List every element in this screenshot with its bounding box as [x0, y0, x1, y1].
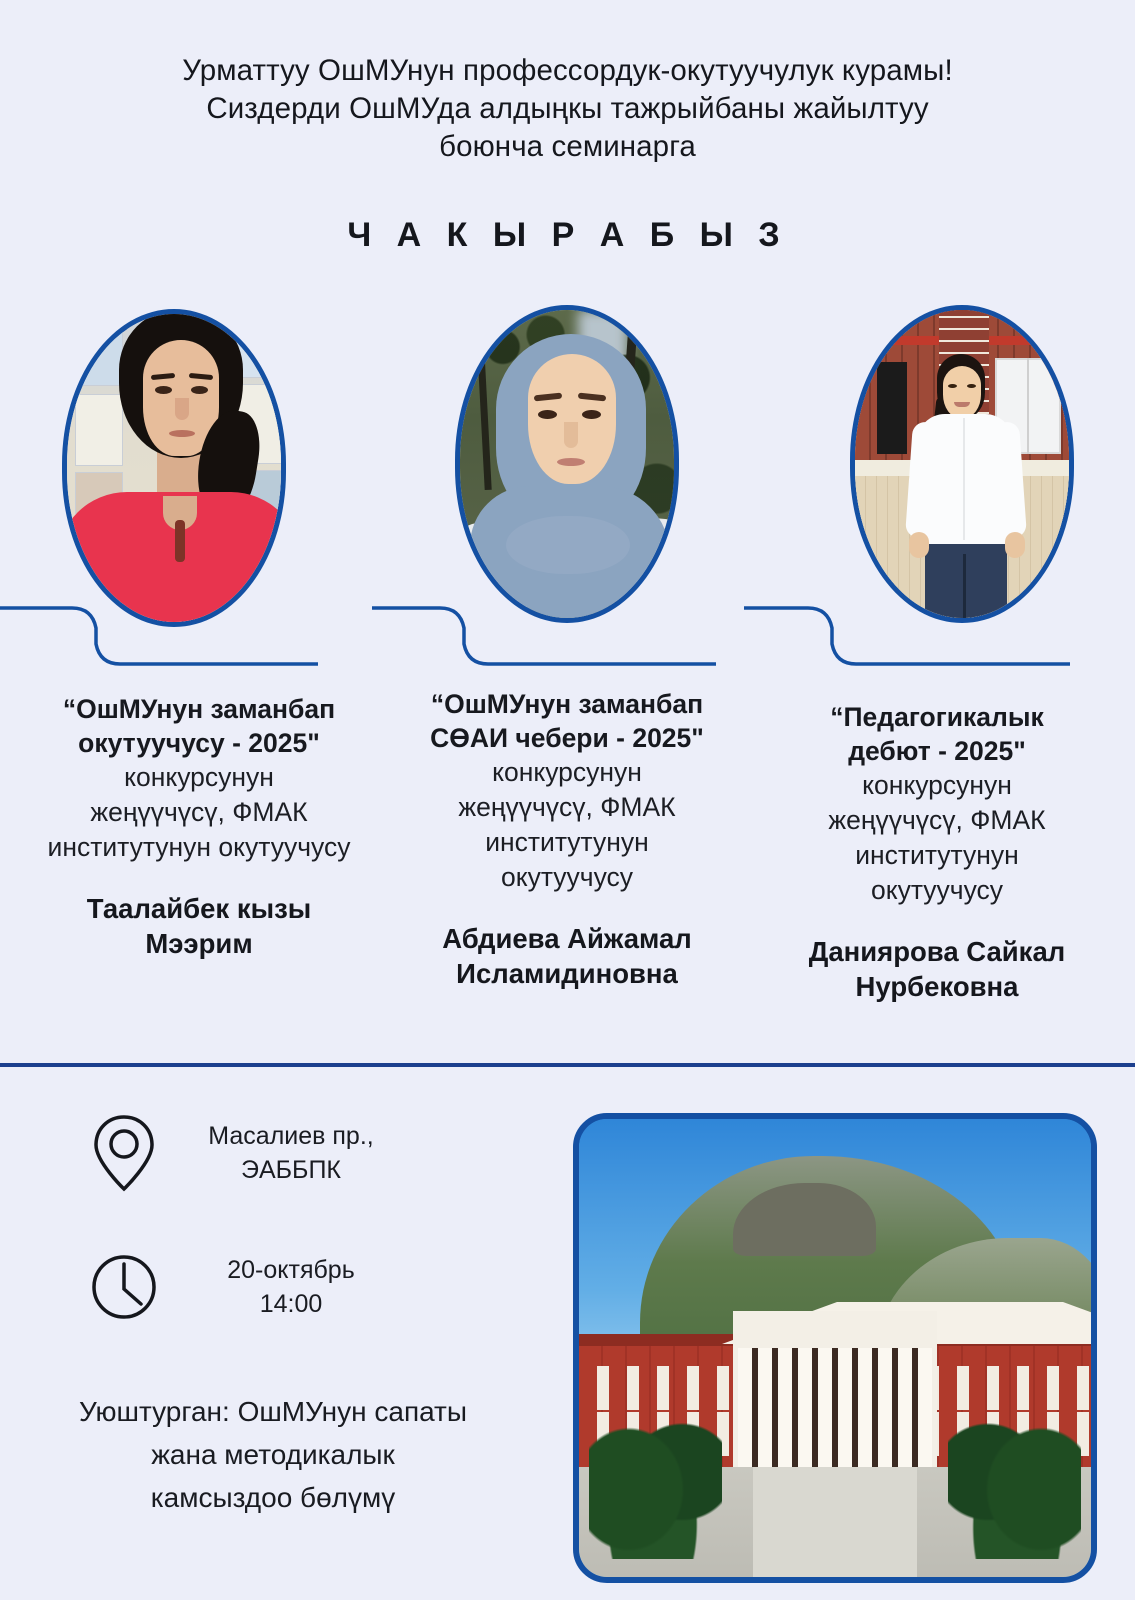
- honoree-name-1-line-2: Мээрим: [0, 926, 398, 961]
- honoree-name-1-line-1: Таалайбек кызы: [0, 891, 398, 926]
- connector-line-1: [0, 608, 318, 664]
- award-description-1-line-3: институтунун окутуучусу: [0, 830, 398, 865]
- connector-line-2: [372, 608, 716, 664]
- organizer-line-1: Уюштурган: ОшМУнун сапаты: [0, 1390, 546, 1433]
- award-description-3: конкурсунун жеңүүчүсү, ФМАК институтунун…: [748, 768, 1126, 908]
- map-pin-icon: [88, 1112, 160, 1194]
- award-description-2-line-4: окутуучусу: [392, 860, 742, 895]
- award-title-2: “ОшМУнун заманбап СӨАИ чебери - 2025": [392, 687, 742, 755]
- datetime-text: 20-октябрь 14:00: [186, 1253, 396, 1321]
- award-description-3-line-2: жеңүүчүсү, ФМАК: [748, 803, 1126, 838]
- award-title-2-line-2: СӨАИ чебери - 2025": [392, 721, 742, 755]
- honoree-column-3: “Педагогикалык дебют - 2025" конкурсунун…: [748, 700, 1126, 1004]
- location-line-1: Масалиев пр.,: [186, 1119, 396, 1153]
- honoree-photo-3: [850, 305, 1074, 623]
- award-description-1: конкурсунун жеңүүчүсү, ФМАК институтунун…: [0, 760, 398, 865]
- honoree-column-2: “ОшМУнун заманбап СӨАИ чебери - 2025" ко…: [392, 687, 742, 991]
- award-description-1-line-2: жеңүүчүсү, ФМАК: [0, 795, 398, 830]
- honoree-name-2-line-2: Исламидиновна: [392, 956, 742, 991]
- connector-line-3: [744, 608, 1070, 664]
- call-to-action-title: Ч А К Ы Р А Б Ы З: [0, 216, 1135, 255]
- award-description-2-line-3: институтунун: [392, 825, 742, 860]
- award-title-3: “Педагогикалык дебют - 2025": [748, 700, 1126, 768]
- header-line-2: Сиздерди ОшМУда алдыңкы тажрыйбаны жайыл…: [0, 90, 1135, 128]
- datetime-row: 20-октябрь 14:00: [88, 1246, 396, 1328]
- honoree-name-1: Таалайбек кызы Мээрим: [0, 891, 398, 961]
- honoree-name-3-line-1: Даниярова Сайкал: [748, 934, 1126, 969]
- award-title-3-line-2: дебют - 2025": [748, 734, 1126, 768]
- award-title-3-line-1: “Педагогикалык: [748, 700, 1126, 734]
- event-time: 14:00: [186, 1287, 396, 1321]
- honoree-name-2-line-1: Абдиева Айжамал: [392, 921, 742, 956]
- honoree-name-3: Даниярова Сайкал Нурбековна: [748, 934, 1126, 1004]
- award-description-1-line-1: конкурсунун: [0, 760, 398, 795]
- clock-icon: [88, 1246, 160, 1328]
- location-row: Масалиев пр., ЭАББПК: [88, 1112, 396, 1194]
- organizer-text: Уюштурган: ОшМУнун сапаты жана методикал…: [0, 1390, 546, 1519]
- award-title-1: “ОшМУнун заманбап окутуучусу - 2025": [0, 692, 398, 760]
- location-line-2: ЭАББПК: [186, 1153, 396, 1187]
- organizer-line-3: камсыздоо бөлүмү: [0, 1476, 546, 1519]
- location-text: Масалиев пр., ЭАББПК: [186, 1119, 396, 1187]
- award-title-1-line-2: окутуучусу - 2025": [0, 726, 398, 760]
- header-line-1: Урматтуу ОшМУнун профессордук-окутуучулу…: [0, 52, 1135, 90]
- honoree-name-3-line-2: Нурбековна: [748, 969, 1126, 1004]
- award-title-2-line-1: “ОшМУнун заманбап: [392, 687, 742, 721]
- connector-lines: [0, 600, 1135, 672]
- award-description-2: конкурсунун жеңүүчүсү, ФМАК институтунун…: [392, 755, 742, 895]
- honoree-name-2: Абдиева Айжамал Исламидиновна: [392, 921, 742, 991]
- section-divider: [0, 1063, 1135, 1067]
- award-description-2-line-1: конкурсунун: [392, 755, 742, 790]
- award-description-3-line-3: институтунун: [748, 838, 1126, 873]
- header-line-3: боюнча семинарга: [0, 128, 1135, 166]
- honoree-portraits-row: [0, 305, 1135, 635]
- honoree-photo-1: [62, 309, 286, 627]
- invitation-header: Урматтуу ОшМУнун профессордук-окутуучулу…: [0, 52, 1135, 166]
- university-building-photo: [573, 1113, 1097, 1583]
- honoree-photo-2: [455, 305, 679, 623]
- honoree-column-1: “ОшМУнун заманбап окутуучусу - 2025" кон…: [0, 692, 398, 961]
- award-title-1-line-1: “ОшМУнун заманбап: [0, 692, 398, 726]
- seminar-invitation-poster: Урматтуу ОшМУнун профессордук-окутуучулу…: [0, 0, 1135, 1600]
- award-description-3-line-4: окутуучусу: [748, 873, 1126, 908]
- award-description-3-line-1: конкурсунун: [748, 768, 1126, 803]
- event-date: 20-октябрь: [186, 1253, 396, 1287]
- organizer-line-2: жана методикалык: [0, 1433, 546, 1476]
- award-description-2-line-2: жеңүүчүсү, ФМАК: [392, 790, 742, 825]
